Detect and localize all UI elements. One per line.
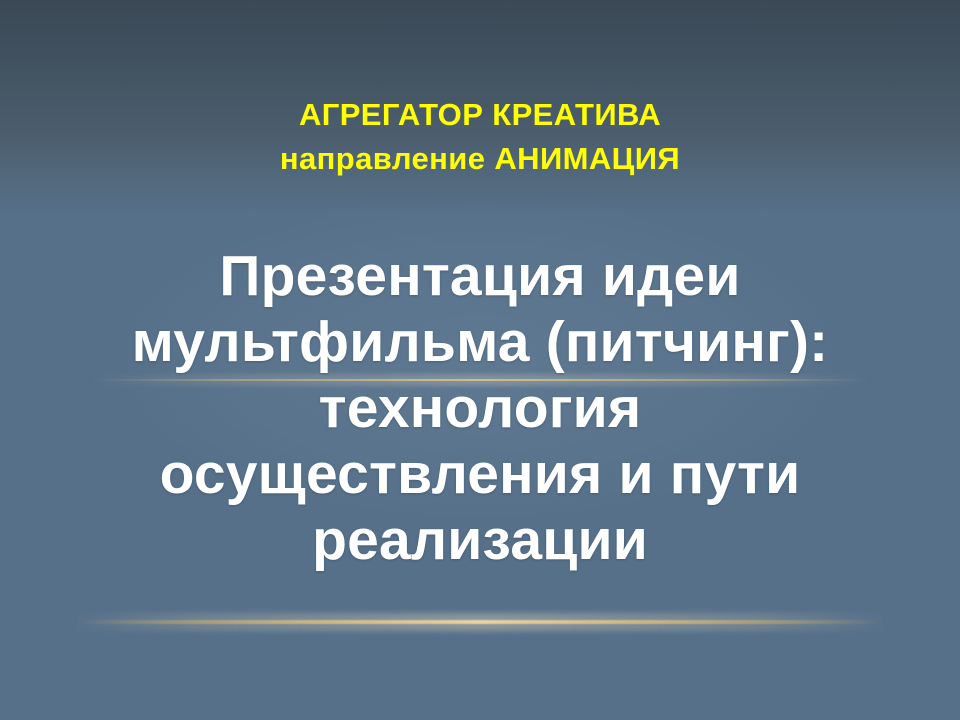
slide-heading-line-1: Презентация идеи	[0, 243, 960, 309]
slide-heading-line-5: реализации	[0, 507, 960, 573]
divider-rule-bottom	[0, 613, 960, 631]
divider-bottom-glow	[0, 613, 960, 631]
divider-bottom-core	[0, 620, 960, 624]
slide-title-line-2: направление АНИМАЦИЯ	[0, 137, 960, 181]
slide-heading-line-2: мультфильма (питчинг):	[0, 309, 960, 375]
slide-title-line-1: АГРЕГАТОР КРЕАТИВА	[0, 93, 960, 137]
slide-heading: Презентация идеи мультфильма (питчинг): …	[0, 243, 960, 573]
presentation-slide: АГРЕГАТОР КРЕАТИВА направление АНИМАЦИЯ …	[0, 0, 960, 720]
slide-title: АГРЕГАТОР КРЕАТИВА направление АНИМАЦИЯ	[0, 93, 960, 181]
slide-heading-line-4: осуществления и пути	[0, 441, 960, 507]
slide-heading-line-3: технология	[0, 375, 960, 441]
